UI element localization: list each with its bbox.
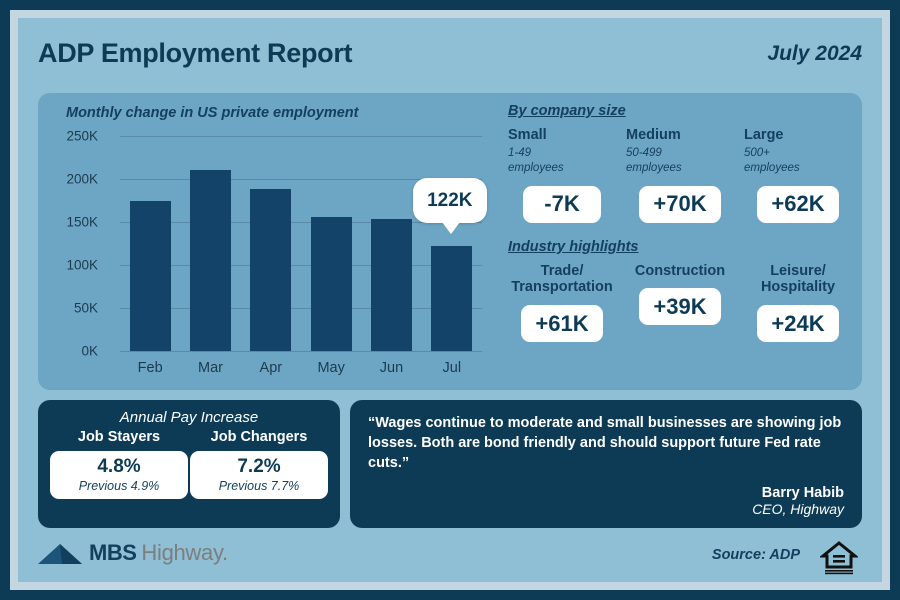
logo-primary-text: MBS	[89, 540, 136, 566]
chart-y-tick-label: 200K	[28, 172, 98, 187]
stat-value-pill: +62K	[757, 186, 838, 223]
stat-label: Medium	[626, 127, 734, 144]
stat-label: Small	[508, 127, 616, 144]
mbs-highway-logo: MBS Highway.	[38, 540, 228, 566]
mountain-icon	[38, 542, 82, 564]
stat-value-pill: -7K	[523, 186, 601, 223]
stat-value-pill: +70K	[639, 186, 720, 223]
chart-x-tick-label: Mar	[183, 360, 239, 376]
chart-x-tick-label: Jul	[424, 360, 480, 376]
industry-row: Trade/Transportation+61KConstruction+39K…	[508, 263, 852, 342]
stat-value-wrap: +62K	[744, 186, 852, 223]
pay-column-label: Job Changers	[190, 429, 328, 445]
pay-current-value: 7.2%	[192, 456, 326, 478]
pay-current-value: 4.8%	[52, 456, 186, 478]
page-title: ADP Employment Report	[38, 38, 352, 69]
stat-value-pill: +24K	[757, 305, 838, 342]
pay-value-box: 7.2%Previous 7.7%	[190, 451, 328, 499]
company-size-heading: By company size	[508, 103, 852, 119]
chart-y-tick-label: 100K	[28, 258, 98, 273]
stat-value-wrap: +61K	[508, 305, 616, 342]
employment-bar-chart: 250K200K150K100K50K0KFebMarAprMayJunJul1…	[58, 131, 498, 381]
stat-column: Medium50-499employees+70K	[626, 127, 734, 223]
stat-column: Leisure/Hospitality+24K	[744, 263, 852, 342]
pay-column-label: Job Stayers	[50, 429, 188, 445]
quote-attribution: Barry Habib CEO, Highway	[752, 485, 844, 517]
stat-column: Large500+employees+62K	[744, 127, 852, 223]
stat-value-pill: +61K	[521, 305, 602, 342]
stat-column: Small1-49employees-7K	[508, 127, 616, 223]
chart-x-tick-label: Apr	[243, 360, 299, 376]
stats-column: By company size Small1-49employees-7KMed…	[508, 103, 852, 383]
chart-bar	[130, 201, 171, 352]
stat-label: Leisure/Hospitality	[744, 263, 852, 296]
chart-gridline	[120, 308, 482, 309]
stat-sublabel: 1-49employees	[508, 146, 616, 177]
stat-value-wrap: +39K	[626, 288, 734, 325]
pay-previous-value: Previous 4.9%	[52, 479, 186, 493]
stat-label: Trade/Transportation	[508, 263, 616, 296]
report-date: July 2024	[767, 42, 862, 66]
chart-y-tick-label: 50K	[28, 301, 98, 316]
chart-y-tick-label: 0K	[28, 344, 98, 359]
pay-panel-title: Annual Pay Increase	[50, 409, 328, 426]
pay-previous-value: Previous 7.7%	[192, 479, 326, 493]
logo-secondary-text: Highway.	[141, 540, 227, 566]
chart-bar	[190, 170, 231, 351]
chart-bar	[431, 246, 472, 351]
chart-gridline	[120, 265, 482, 266]
stat-column: Construction+39K	[626, 263, 734, 326]
pay-column: Job Changers7.2%Previous 7.7%	[190, 429, 328, 499]
stat-column: Trade/Transportation+61K	[508, 263, 616, 342]
chart-bar	[250, 189, 291, 351]
chart-y-tick-label: 250K	[28, 129, 98, 144]
source-label: Source: ADP	[712, 547, 800, 563]
chart-gridline	[120, 136, 482, 137]
stat-value-wrap: +24K	[744, 305, 852, 342]
stat-label: Construction	[626, 263, 734, 280]
stat-value-pill: +39K	[639, 288, 720, 325]
pay-columns: Job Stayers4.8%Previous 4.9%Job Changers…	[50, 429, 328, 499]
poster-canvas: ADP Employment Report July 2024 Monthly …	[18, 18, 882, 582]
chart-x-tick-label: Feb	[122, 360, 178, 376]
stat-value-wrap: -7K	[508, 186, 616, 223]
stat-label: Large	[744, 127, 852, 144]
company-size-row: Small1-49employees-7KMedium50-499employe…	[508, 127, 852, 223]
quote-author-name: Barry Habib	[752, 485, 844, 501]
industry-heading: Industry highlights	[508, 239, 852, 255]
pay-value-box: 4.8%Previous 4.9%	[50, 451, 188, 499]
annual-pay-increase-panel: Annual Pay Increase Job Stayers4.8%Previ…	[38, 400, 340, 528]
chart-x-tick-label: May	[303, 360, 359, 376]
quote-author-role: CEO, Highway	[752, 501, 844, 517]
chart-title: Monthly change in US private employment	[66, 105, 358, 121]
stat-value-wrap: +70K	[626, 186, 734, 223]
poster-footer: MBS Highway. Source: ADP	[38, 538, 862, 578]
chart-bar	[311, 217, 352, 351]
pay-column: Job Stayers4.8%Previous 4.9%	[50, 429, 188, 499]
chart-value-callout: 122K	[413, 178, 487, 223]
chart-y-tick-label: 150K	[28, 215, 98, 230]
chart-bar	[371, 219, 412, 351]
chart-gridline	[120, 351, 482, 352]
poster-header: ADP Employment Report July 2024	[38, 32, 862, 88]
equal-housing-opportunity-icon	[820, 540, 858, 576]
stat-sublabel: 50-499employees	[626, 146, 734, 177]
main-content-panel: Monthly change in US private employment …	[38, 93, 862, 390]
quote-panel: “Wages continue to moderate and small bu…	[350, 400, 862, 528]
quote-text: “Wages continue to moderate and small bu…	[368, 413, 844, 473]
infographic-poster: ADP Employment Report July 2024 Monthly …	[0, 0, 900, 600]
chart-plot-area: 250K200K150K100K50K0KFebMarAprMayJunJul1…	[120, 136, 482, 351]
chart-x-tick-label: Jun	[364, 360, 420, 376]
stat-sublabel: 500+employees	[744, 146, 852, 177]
